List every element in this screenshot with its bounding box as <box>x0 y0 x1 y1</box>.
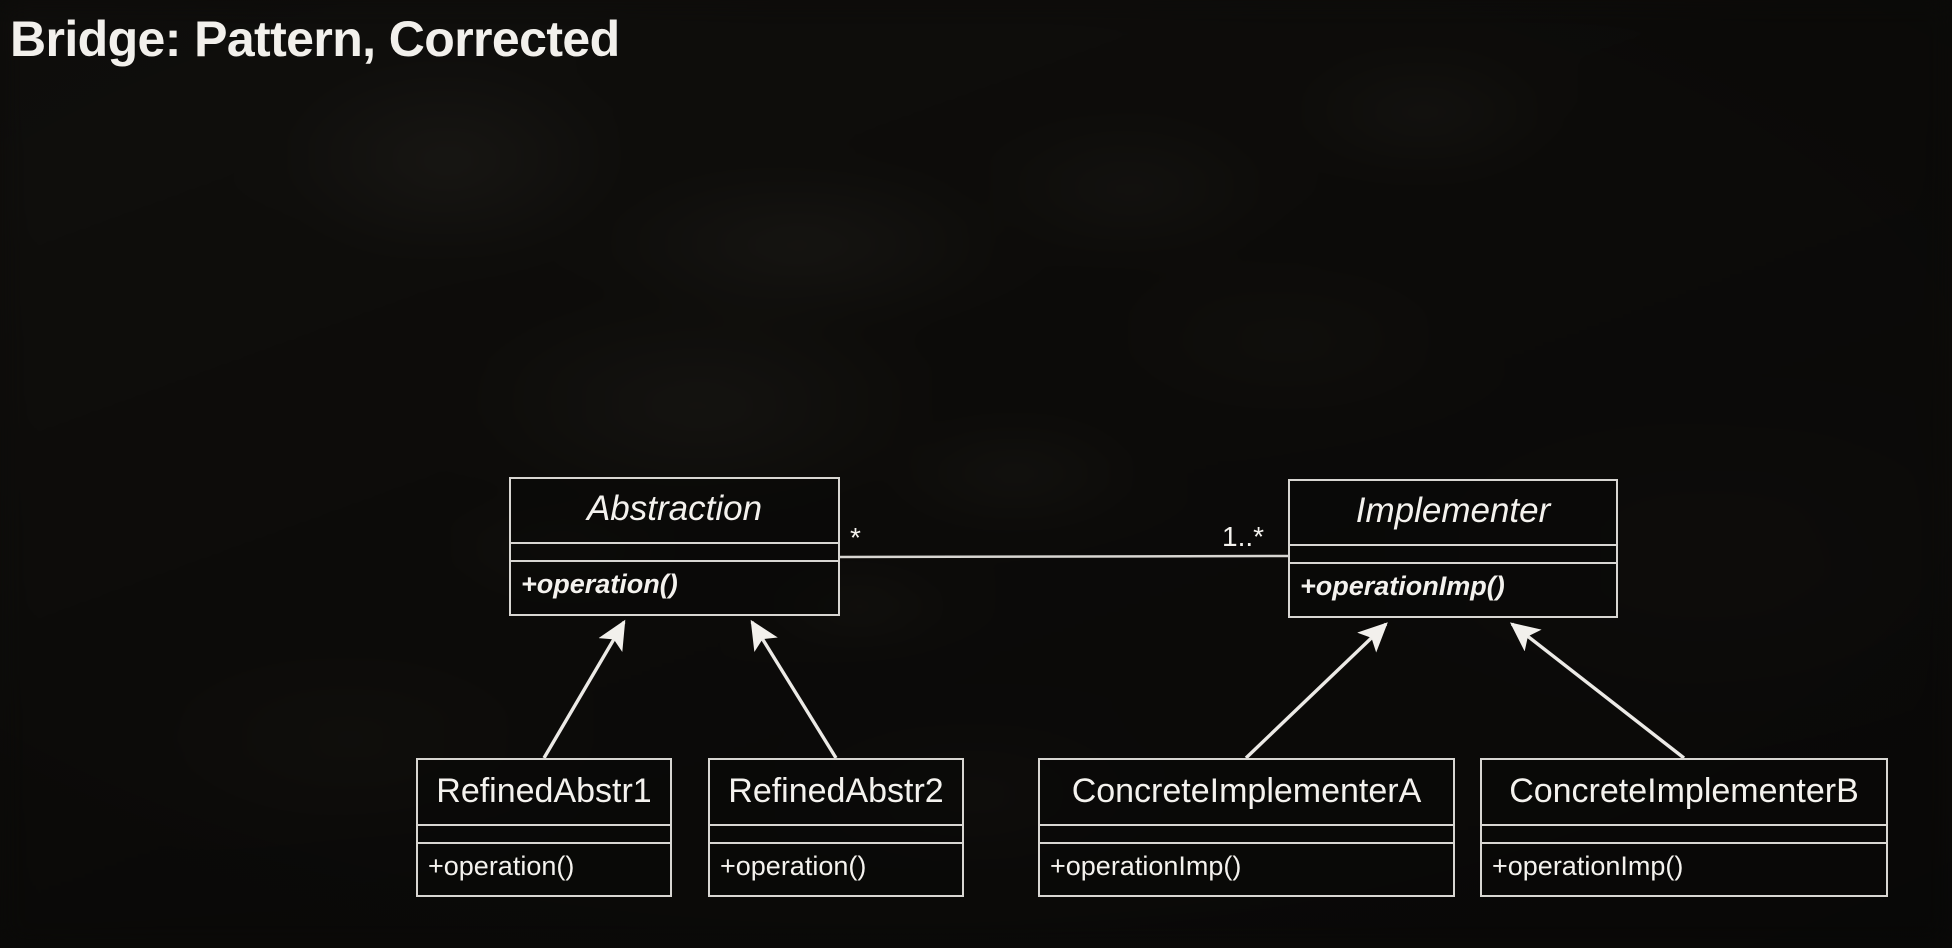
uml-class-refinedabstr1[interactable]: RefinedAbstr1 +operation() <box>416 758 672 897</box>
uml-operation: +operation() <box>511 562 838 614</box>
page-title: Bridge: Pattern, Corrected <box>10 10 620 68</box>
uml-class-name: Implementer <box>1290 481 1616 544</box>
multiplicity-abstraction-side: * <box>850 524 861 552</box>
uml-class-abstraction[interactable]: Abstraction +operation() <box>509 477 840 616</box>
uml-operation: +operation() <box>710 844 962 895</box>
uml-attributes-compartment <box>418 824 670 844</box>
uml-class-name: ConcreteImplementerA <box>1040 760 1453 824</box>
uml-class-name: RefinedAbstr1 <box>418 760 670 824</box>
uml-class-implementer[interactable]: Implementer +operationImp() <box>1288 479 1618 618</box>
slide-canvas: Bridge: Pattern, Corrected * 1..* Abstra… <box>0 0 1952 948</box>
uml-class-concreteimplementerb[interactable]: ConcreteImplementerB +operationImp() <box>1480 758 1888 897</box>
uml-operation: +operationImp() <box>1040 844 1453 895</box>
uml-class-concreteimplementera[interactable]: ConcreteImplementerA +operationImp() <box>1038 758 1455 897</box>
multiplicity-implementer-side: 1..* <box>1222 523 1264 551</box>
uml-class-name: RefinedAbstr2 <box>710 760 962 824</box>
uml-operation: +operation() <box>418 844 670 895</box>
uml-operation: +operationImp() <box>1290 564 1616 616</box>
uml-operation: +operationImp() <box>1482 844 1886 895</box>
uml-attributes-compartment <box>511 542 838 562</box>
uml-class-refinedabstr2[interactable]: RefinedAbstr2 +operation() <box>708 758 964 897</box>
uml-class-name: ConcreteImplementerB <box>1482 760 1886 824</box>
uml-attributes-compartment <box>1040 824 1453 844</box>
uml-attributes-compartment <box>1482 824 1886 844</box>
uml-attributes-compartment <box>710 824 962 844</box>
uml-class-name: Abstraction <box>511 479 838 542</box>
uml-attributes-compartment <box>1290 544 1616 564</box>
